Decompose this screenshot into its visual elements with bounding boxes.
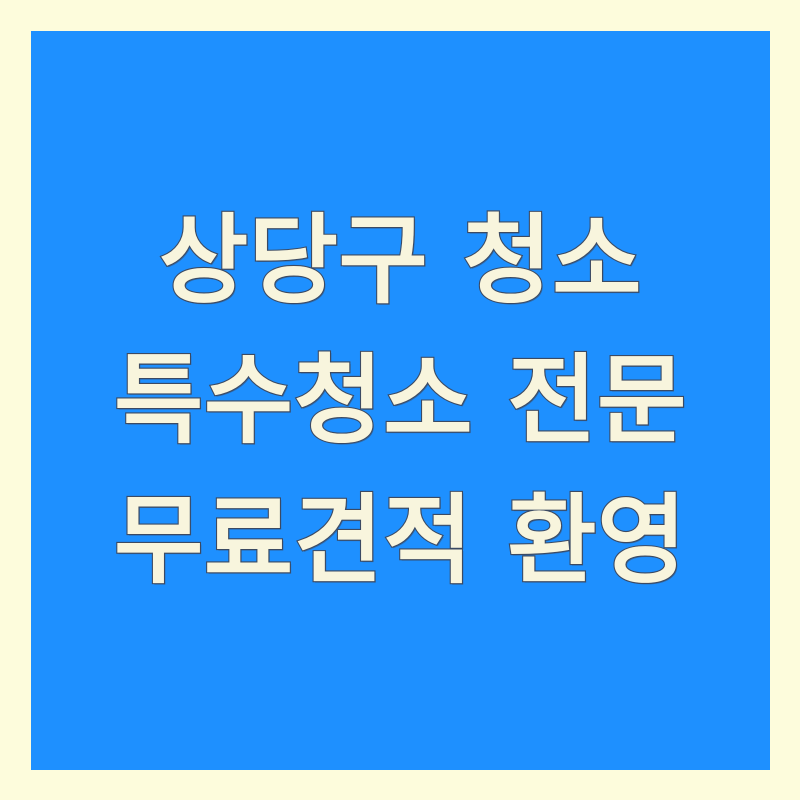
headline-line-3: 무료견적 환영	[31, 471, 770, 611]
banner-panel: 상당구 청소 특수청소 전문 무료견적 환영	[31, 31, 770, 770]
poster-canvas: 상당구 청소 특수청소 전문 무료견적 환영	[0, 0, 800, 800]
headline-line-2: 특수청소 전문	[31, 331, 770, 471]
headline-block: 상당구 청소 특수청소 전문 무료견적 환영	[31, 191, 770, 611]
headline-line-1: 상당구 청소	[31, 191, 770, 331]
